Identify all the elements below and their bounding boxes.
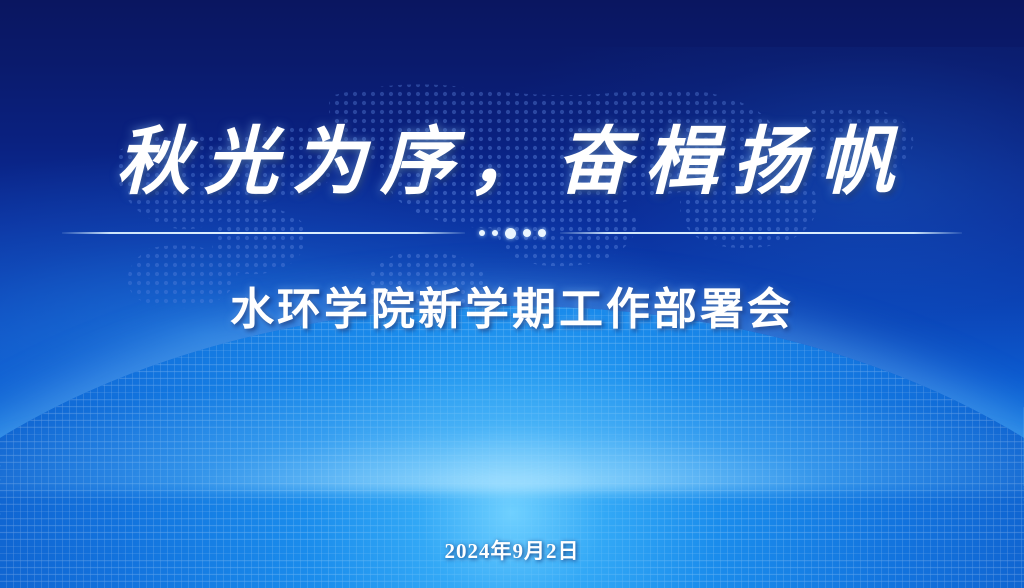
divider-dot-cluster (465, 228, 560, 239)
background-glow-right (492, 47, 1024, 400)
dotted-world-map (0, 0, 1024, 340)
globe-grid-overlay (0, 306, 1024, 588)
page-subtitle: 水环学院新学期工作部署会 (0, 286, 1024, 334)
divider-rule-right (560, 232, 963, 234)
divider-dot-2 (492, 230, 498, 236)
landmark-far-tower-right (884, 386, 940, 504)
presentation-title-slide: 秋光为序，奋楫扬帆 水环学院新学期工作部署会 2024年9月2日 (0, 0, 1024, 588)
divider-dot-1 (479, 230, 485, 236)
horizon-glow (0, 372, 1024, 492)
landmark-ribbed-tower (452, 360, 520, 498)
landmark-twin-spire-tower (182, 308, 242, 496)
landmark-curved-glass-tower (546, 318, 650, 498)
globe-horizon (0, 306, 1024, 588)
slide-date: 2024年9月2日 (0, 535, 1024, 565)
landmark-dome-tower (300, 336, 360, 498)
divider-dot-3 (505, 228, 516, 239)
slide-content: 秋光为序，奋楫扬帆 水环学院新学期工作部署会 2024年9月2日 (0, 0, 1024, 588)
city-skyline-wireframe (0, 290, 1024, 530)
landmark-right-pearl-tower (946, 318, 974, 502)
title-divider (62, 226, 962, 240)
divider-rule-left (62, 232, 465, 234)
background-glow-left (0, 153, 696, 518)
landmark-stepped-office-block (888, 336, 950, 496)
skyline-ground-lines (0, 474, 1024, 514)
divider-dot-4 (523, 229, 531, 237)
landmark-petronas-twin-towers (754, 298, 880, 498)
landmark-oriental-pearl-tower (674, 302, 726, 500)
divider-dot-5 (538, 229, 546, 237)
page-title: 秋光为序，奋楫扬帆 (0, 126, 1024, 200)
landmark-burj-al-arab (690, 334, 788, 500)
landmark-arch-bridge-left (380, 450, 486, 500)
landmark-eiffel-tower (752, 304, 840, 502)
skyline-background-layer (0, 370, 1024, 500)
landmark-suspension-bridge-right (470, 458, 660, 506)
